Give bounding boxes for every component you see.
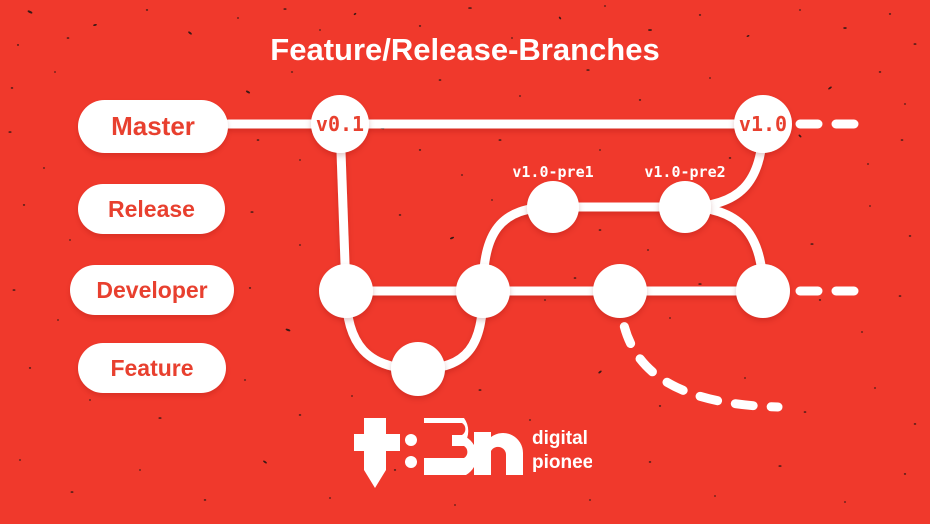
logo-tagline-line2: pioneers [532,452,592,473]
commit-node-pre1[interactable] [527,181,579,233]
t3n-digital-pioneers-logo: digital pioneers [352,414,592,490]
commit-node-pre2[interactable] [659,181,711,233]
branch-label-developer[interactable]: Developer [70,265,234,315]
commit-node-dev-4[interactable] [736,264,790,318]
logo-tagline-line1: digital [532,428,588,449]
branch-label-feature[interactable]: Feature [78,343,226,393]
commit-node-dev-3[interactable] [593,264,647,318]
branch-label-release[interactable]: Release [78,184,225,234]
commit-node-dev-1[interactable] [319,264,373,318]
slide-canvas: Feature/Release-Branches Master Release … [0,0,930,524]
page-title: Feature/Release-Branches [0,32,930,68]
branch-label-developer-text: Developer [96,277,207,304]
commit-tag-v10-pre2: v1.0-pre2 [644,163,725,181]
commit-tag-v10: v1.0 [723,112,803,136]
commit-node-feature-1[interactable] [391,342,445,396]
commit-node-dev-2[interactable] [456,264,510,318]
branch-label-master[interactable]: Master [78,100,228,153]
branch-label-master-text: Master [111,111,195,142]
branch-label-feature-text: Feature [110,355,193,382]
commit-tag-v01: v0.1 [300,112,380,136]
branch-label-release-text: Release [108,196,195,223]
commit-tag-v10-pre1: v1.0-pre1 [512,163,593,181]
